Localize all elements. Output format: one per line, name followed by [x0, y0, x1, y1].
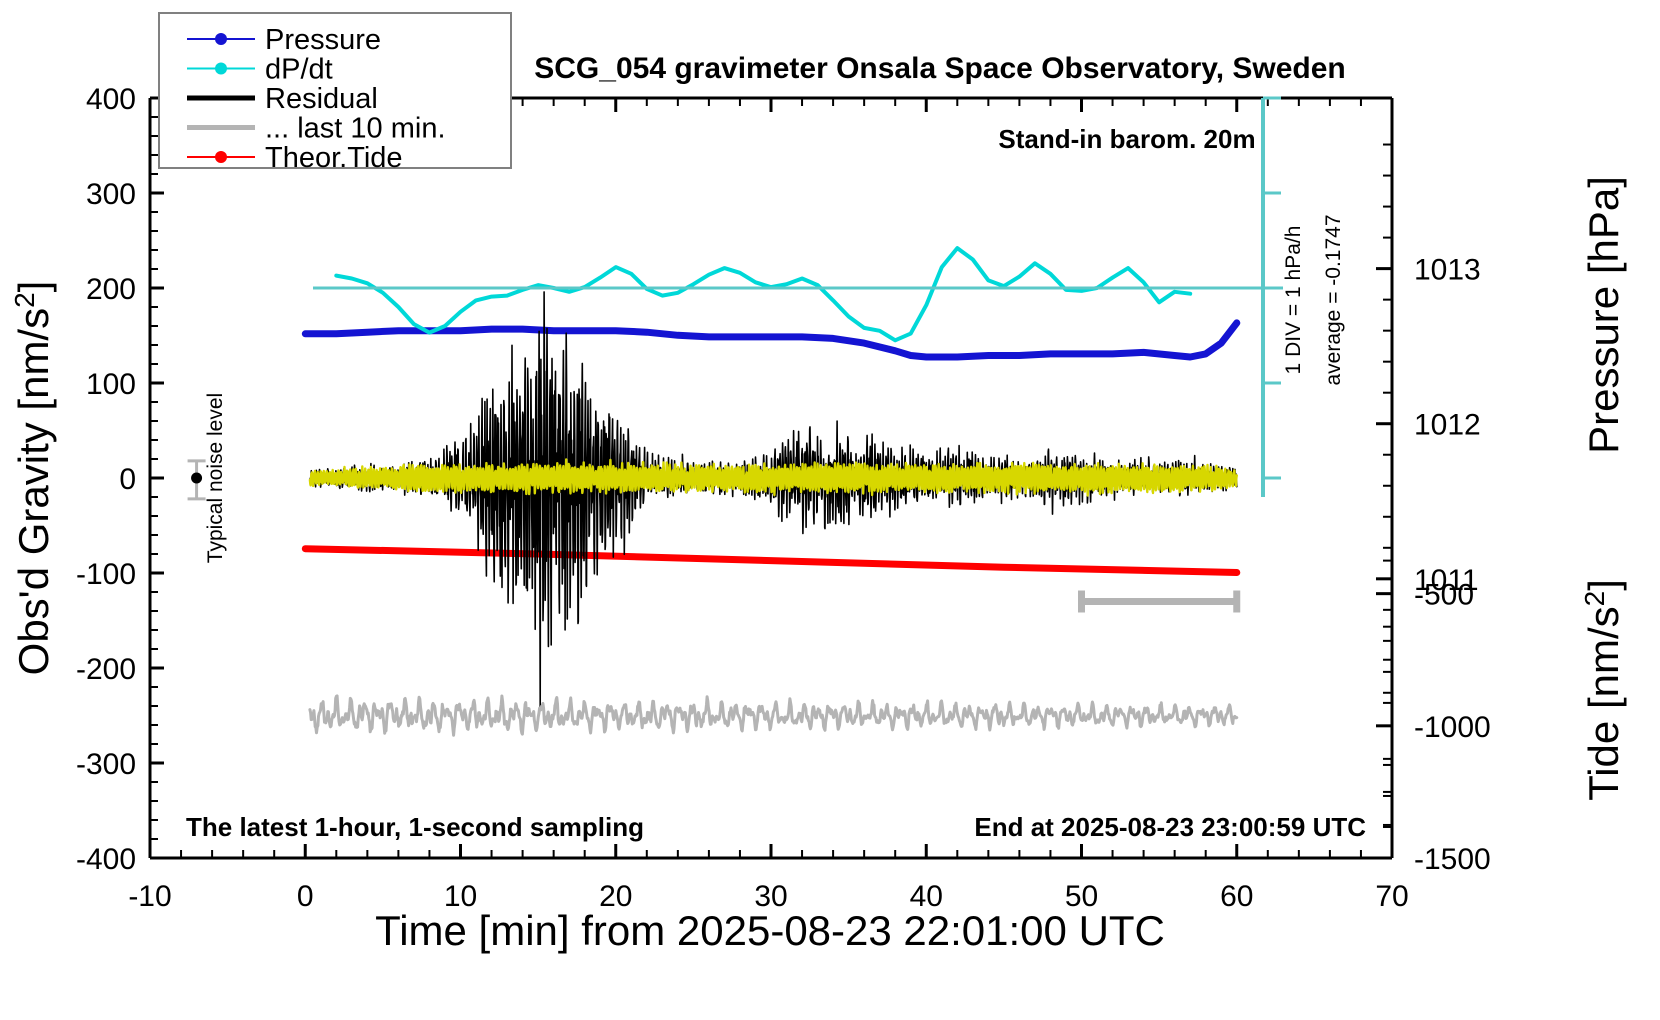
x-tick-label: 70 [1375, 880, 1408, 913]
y-tick-label: 300 [86, 178, 136, 211]
dpdt-division-label: 1 DIV = 1 hPa/h [1282, 226, 1305, 375]
chart-title: SCG_054 gravimeter Onsala Space Observat… [534, 52, 1346, 85]
legend-label-2: Residual [265, 83, 378, 115]
x-axis-title: Time [min] from 2025-08-23 22:01:00 UTC [375, 907, 1165, 954]
legend-label-0: Pressure [265, 24, 381, 56]
standin-barom-label: Stand-in barom. 20m [998, 124, 1255, 154]
tide-tick-label: -1500 [1414, 843, 1491, 876]
typical-noise-label: Typical noise level [204, 393, 227, 563]
noise-errorbar-dot [191, 473, 202, 484]
legend-marker-4 [215, 151, 227, 163]
gravimeter-chart: -100102030405060704003002001000-100-200-… [0, 0, 1660, 1020]
tide-tick-label: -500 [1414, 579, 1474, 612]
legend-marker-1 [215, 63, 227, 75]
x-tick-label: 0 [297, 880, 314, 913]
x-tick-label: 60 [1220, 880, 1253, 913]
gravimeter-chart-page: -100102030405060704003002001000-100-200-… [0, 0, 1660, 1020]
legend-layer: PressuredP/dtResidual... last 10 min.The… [159, 13, 511, 174]
tide-tick-label: -1000 [1414, 711, 1491, 744]
y-axis-right-tide-title: Tide [nm/s2] [1579, 579, 1627, 801]
y-axis-left-title: Obs'd Gravity [nm/s2] [9, 281, 57, 676]
sampling-note-label: The latest 1-hour, 1-second sampling [186, 812, 644, 842]
y-tick-label: 100 [86, 368, 136, 401]
end-time-label: End at 2025-08-23 23:00:59 UTC [974, 812, 1366, 842]
legend-label-4: Theor.Tide [265, 142, 403, 174]
y-axis-right-pressure-title: Pressure [hPa] [1580, 176, 1627, 454]
y-tick-label: -100 [76, 558, 136, 591]
dpdt-average-label: average = -0.1747 [1322, 214, 1345, 385]
pressure-tick-label: 1012 [1414, 409, 1481, 442]
pressure-tick-label: 1013 [1414, 254, 1481, 287]
legend-label-1: dP/dt [265, 54, 333, 86]
y-tick-label: 0 [119, 463, 136, 496]
y-tick-label: 400 [86, 83, 136, 116]
legend-label-3: ... last 10 min. [265, 113, 446, 145]
legend-marker-0 [215, 33, 227, 45]
x-tick-label: -10 [128, 880, 171, 913]
y-tick-label: 200 [86, 273, 136, 306]
y-tick-label: -200 [76, 653, 136, 686]
y-tick-label: -400 [76, 843, 136, 876]
y-tick-label: -300 [76, 748, 136, 781]
